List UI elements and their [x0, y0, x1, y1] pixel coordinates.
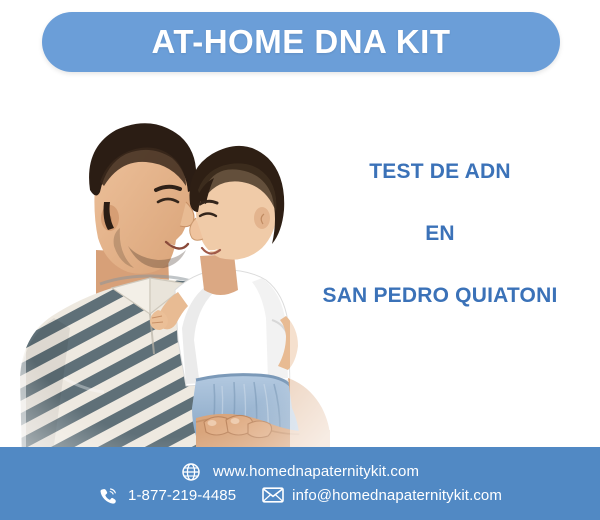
- phone-label[interactable]: 1-877-219-4485: [128, 487, 236, 504]
- poster-canvas: AT-HOME DNA KIT: [0, 0, 600, 520]
- family-photo: [0, 78, 330, 460]
- location-info-block: TEST DE ADN EN SAN PEDRO QUIATONI: [290, 160, 590, 308]
- info-line-location: SAN PEDRO QUIATONI: [290, 284, 590, 308]
- phone-icon: [98, 486, 118, 506]
- page-title: AT-HOME DNA KIT: [152, 23, 451, 61]
- globe-icon: [181, 462, 201, 482]
- website-label[interactable]: www.homednapaternitykit.com: [213, 463, 419, 480]
- phone-contact[interactable]: 1-877-219-4485: [98, 486, 236, 506]
- footer-row-website: www.homednapaternitykit.com: [181, 462, 419, 482]
- email-label[interactable]: info@homednapaternitykit.com: [292, 487, 502, 504]
- envelope-icon: [262, 486, 282, 506]
- footer-row-contact: 1-877-219-4485 info@homednapaternitykit.…: [98, 486, 502, 506]
- info-line-preposition: EN: [290, 222, 590, 246]
- info-line-service: TEST DE ADN: [290, 160, 590, 184]
- header-banner: AT-HOME DNA KIT: [42, 12, 560, 72]
- email-contact[interactable]: info@homednapaternitykit.com: [262, 486, 502, 506]
- contact-footer: www.homednapaternitykit.com 1-877-219-44…: [0, 447, 600, 520]
